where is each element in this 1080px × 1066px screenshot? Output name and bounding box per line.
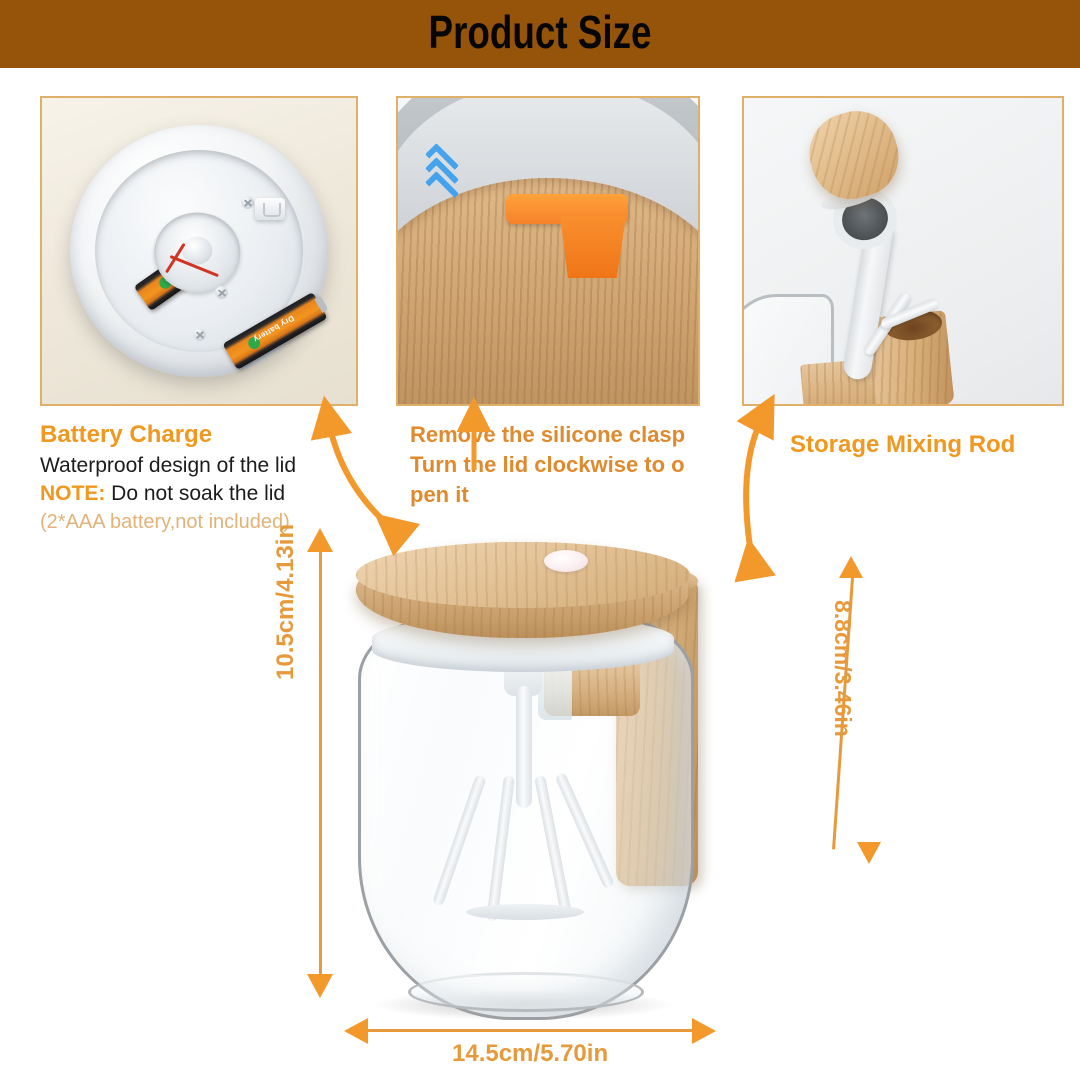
- clasp-caption-line1: Remove the silicone clasp: [410, 420, 710, 450]
- battery-compartment-photo: Dry battery Dry battery: [40, 96, 358, 406]
- product-size-infographic: Product Size Dry battery Dry battery: [0, 0, 1080, 1066]
- rod-caption-title: Storage Mixing Rod: [790, 430, 1070, 460]
- page-title: Product Size: [108, 0, 972, 68]
- battery-caption-note: NOTE: Do not soak the lid: [40, 480, 370, 508]
- battery-caption-title: Battery Charge: [40, 420, 370, 450]
- lid-disc: Dry battery Dry battery: [70, 125, 328, 377]
- clasp-caption-line2: Turn the lid clockwise to o: [410, 450, 710, 480]
- arrow-down-icon: [857, 842, 881, 864]
- note-label: NOTE:: [40, 482, 105, 505]
- width-dimension-line: [366, 1029, 694, 1032]
- silicone-clasp-photo: [396, 96, 700, 406]
- height-dimension-label: 10.5cm/4.13in: [272, 500, 300, 680]
- width-dimension-label: 14.5cm/5.70in: [452, 1040, 608, 1066]
- product-photo-mug: [348, 520, 720, 1020]
- height-dimension-line: [319, 548, 322, 980]
- mug-base: [408, 972, 644, 1012]
- header-bar: Product Size: [0, 0, 1080, 68]
- motor-hub: [154, 213, 240, 293]
- mixing-rod-storage-photo: [742, 96, 1064, 406]
- whisk-stem: [516, 686, 532, 808]
- battery-caption-block: Battery Charge Waterproof design of the …: [40, 420, 370, 536]
- lid-button: [544, 550, 588, 572]
- handle-dimension-label: 8.8cm/3.46in: [829, 600, 856, 737]
- screw-icon: [241, 196, 254, 209]
- arrow-up-icon: [839, 556, 863, 578]
- whisk-foot: [466, 904, 584, 920]
- clasp-caption-line3: pen it: [410, 480, 710, 510]
- red-wire: [165, 243, 186, 273]
- arrow-down-icon: [307, 974, 333, 998]
- lid-inner-well: Dry battery Dry battery: [95, 150, 303, 352]
- rod-caption-block: Storage Mixing Rod: [790, 430, 1070, 460]
- clasp-stem: [560, 216, 626, 278]
- screw-icon: [193, 328, 206, 341]
- lid-clip-tab: [255, 198, 285, 220]
- connector-handle-to-rod: [746, 414, 764, 560]
- screw-icon: [215, 286, 228, 299]
- battery-caption-line1: Waterproof design of the lid: [40, 452, 370, 480]
- note-text: Do not soak the lid: [105, 482, 285, 505]
- arrow-right-icon: [692, 1018, 716, 1044]
- clasp-caption-block: Remove the silicone clasp Turn the lid c…: [410, 420, 710, 510]
- arrow-left-icon: [344, 1018, 368, 1044]
- arrow-up-icon: [307, 528, 333, 552]
- wooden-lid-top: [356, 542, 690, 608]
